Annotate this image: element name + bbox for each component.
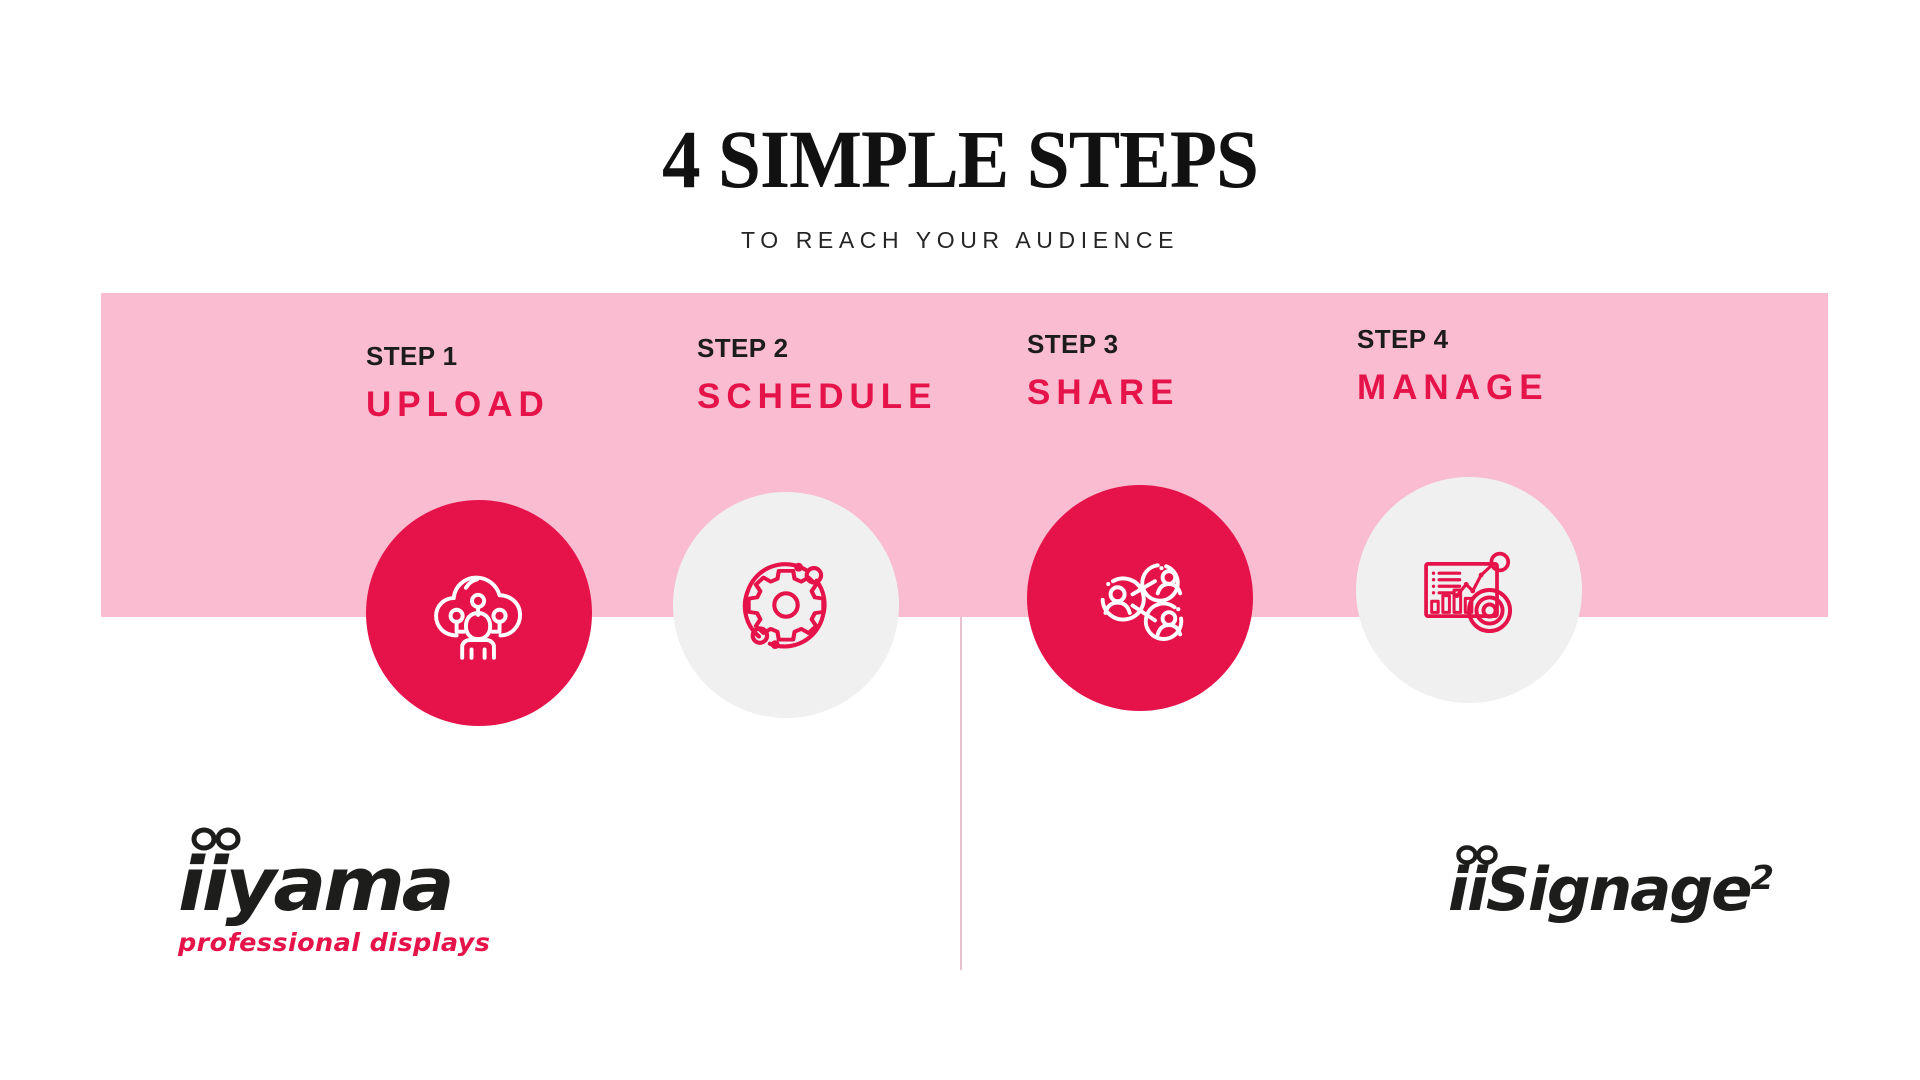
step-1-icon-circle[interactable] [366, 500, 592, 726]
step-2-title: SCHEDULE [697, 377, 938, 417]
step-2[interactable]: STEP 2 SCHEDULE [697, 333, 938, 417]
step-4[interactable]: STEP 4 MANAGE [1357, 324, 1549, 408]
step-1[interactable]: STEP 1 UPLOAD [366, 341, 550, 425]
share-network-people-icon [1084, 542, 1196, 654]
step-3-number: STEP 3 [1027, 329, 1180, 360]
step-4-number: STEP 4 [1357, 324, 1549, 355]
step-3-title: SHARE [1027, 373, 1180, 413]
cloud-people-upload-icon [423, 557, 535, 669]
step-3[interactable]: STEP 3 SHARE [1027, 329, 1180, 413]
analytics-dashboard-icon [1413, 534, 1525, 646]
iisignage-superscript: 2 [1751, 858, 1774, 897]
iiyama-tagline: professional displays [178, 928, 490, 957]
gear-orbit-icon [732, 551, 840, 659]
step-1-title: UPLOAD [366, 385, 550, 425]
iiyama-logo: iiyama professional displays [178, 828, 484, 957]
iiyama-wordmark: iiyama [178, 828, 503, 922]
step-4-icon-circle[interactable] [1356, 477, 1582, 703]
iisignage-wordmark: iiSignage2 [1448, 842, 1774, 920]
iisignage-word-text: iiSignage [1448, 855, 1751, 925]
step-1-number: STEP 1 [366, 341, 550, 372]
step-4-title: MANAGE [1357, 368, 1549, 408]
step-2-number: STEP 2 [697, 333, 938, 364]
iisignage-logo: iiSignage2 [1448, 842, 1768, 920]
step-2-icon-circle[interactable] [673, 492, 899, 718]
step-3-icon-circle[interactable] [1027, 485, 1253, 711]
